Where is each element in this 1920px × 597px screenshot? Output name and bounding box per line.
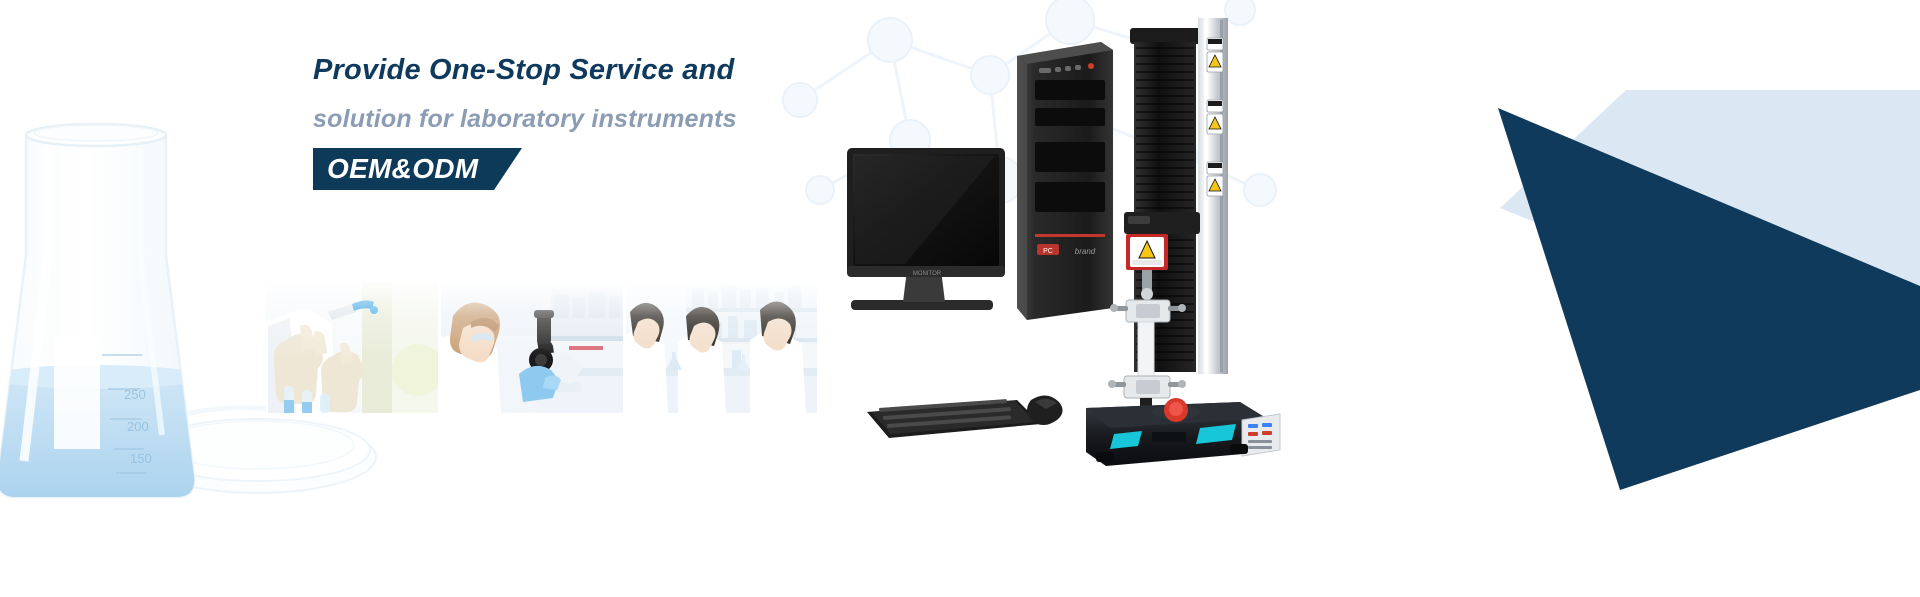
badge-arrow-tail-icon <box>494 148 522 190</box>
oem-odm-badge-wrapper: OEM&ODM <box>313 148 494 190</box>
keyboard-icon <box>867 399 1041 438</box>
flask-graduation-200: 200 <box>127 419 149 434</box>
monitor-icon: MONITOR <box>847 148 1005 310</box>
photo-microscope <box>441 282 623 413</box>
petri-dish-icon <box>140 408 376 493</box>
photo-pipetting <box>266 282 438 413</box>
promo-banner: 250 200 150 Provide One-Stop Service and… <box>0 0 1920 597</box>
deco-arrow-dark <box>1498 108 1920 490</box>
universal-testing-machine-icon <box>1080 4 1310 474</box>
flask-graduation-150: 150 <box>130 451 152 466</box>
warning-label-icon <box>1207 100 1223 134</box>
svg-text:MONITOR: MONITOR <box>913 271 942 277</box>
svg-text:PC: PC <box>1043 248 1053 255</box>
lab-photo-strip <box>266 282 820 413</box>
warning-label-icon <box>1207 162 1223 196</box>
flask-graduation-250: 250 <box>124 387 146 402</box>
photo-lab-team <box>626 282 817 413</box>
oem-odm-badge: OEM&ODM <box>313 148 494 190</box>
erlenmeyer-flask-icon: 250 200 150 <box>0 124 202 505</box>
mouse-icon <box>1027 395 1063 425</box>
machine-base <box>1086 398 1280 466</box>
warning-label-icon <box>1207 38 1223 72</box>
deco-arrow-light <box>1500 90 1920 378</box>
lower-grip <box>1108 376 1186 398</box>
